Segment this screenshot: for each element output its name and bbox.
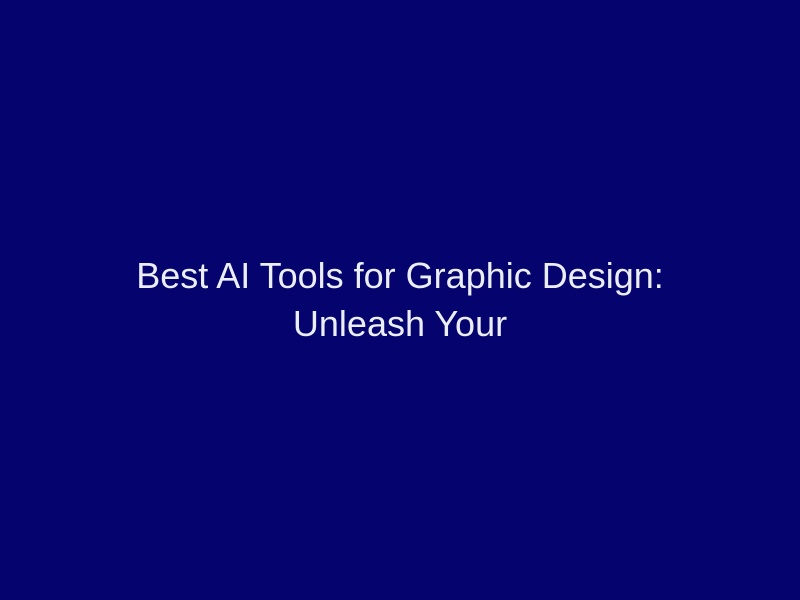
title-block: Best AI Tools for Graphic Design: Unleas… — [80, 252, 720, 348]
page-title: Best AI Tools for Graphic Design: Unleas… — [80, 252, 720, 348]
article-title-card: Best AI Tools for Graphic Design: Unleas… — [0, 0, 800, 600]
